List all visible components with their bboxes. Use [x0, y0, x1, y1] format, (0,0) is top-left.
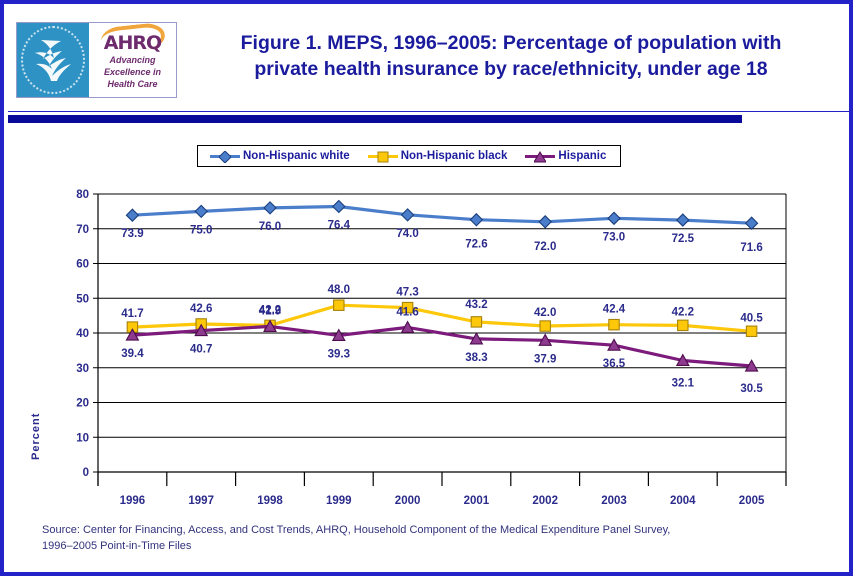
data-point-label: 43.2	[465, 299, 487, 311]
ahrq-tagline-1: Advancing	[91, 55, 174, 66]
hhs-seal-icon	[17, 23, 89, 97]
x-tick-label: 2000	[395, 495, 421, 504]
data-point-label: 41.9	[259, 305, 281, 317]
page-title: Figure 1. MEPS, 1996–2005: Percentage of…	[186, 30, 836, 82]
data-point-marker	[402, 209, 414, 221]
x-tick-label: 2005	[739, 495, 765, 504]
data-point-label: 42.4	[603, 304, 626, 316]
data-point-label: 72.6	[465, 239, 487, 251]
ahrq-tagline-2: Excellence in	[91, 67, 174, 78]
y-tick-label: 10	[76, 432, 89, 444]
ahrq-acronym: AHRQ	[91, 32, 174, 54]
data-point-label: 38.3	[465, 352, 487, 364]
y-tick-label: 50	[76, 293, 89, 305]
data-point-label: 36.5	[603, 358, 626, 370]
data-point-label: 73.9	[121, 228, 143, 240]
ahrq-logo: AHRQ Advancing Excellence in Health Care	[16, 22, 177, 98]
data-point-label: 76.4	[328, 220, 351, 232]
data-point-marker	[746, 217, 758, 229]
x-tick-label: 1999	[326, 495, 352, 504]
source-note-line-2: 1996–2005 Point-in-Time Files	[42, 538, 832, 554]
legend-swatch-diamond-icon	[210, 149, 240, 163]
data-point-label: 32.1	[672, 377, 695, 389]
y-tick-label: 60	[76, 259, 89, 271]
data-point-label: 73.0	[603, 231, 625, 243]
legend-label: Non-Hispanic white	[243, 150, 350, 162]
page-title-line-1: Figure 1. MEPS, 1996–2005: Percentage of…	[186, 30, 836, 56]
x-tick-label: 1998	[257, 495, 283, 504]
legend-label: Hispanic	[558, 150, 606, 162]
data-point-label: 41.6	[396, 306, 418, 318]
data-point-label: 75.0	[190, 224, 212, 236]
data-point-marker	[539, 216, 551, 228]
data-point-marker	[678, 320, 688, 330]
data-point-label: 48.0	[328, 284, 350, 296]
legend-item-hispanic: Hispanic	[525, 149, 606, 163]
seal-bird-icon	[31, 37, 75, 83]
data-point-label: 42.6	[190, 303, 212, 315]
legend-swatch-square-icon	[368, 149, 398, 163]
data-point-marker	[334, 300, 344, 310]
legend-item-non-hispanic-black: Non-Hispanic black	[368, 149, 508, 163]
data-point-marker	[264, 202, 276, 214]
y-tick-label: 40	[76, 328, 89, 340]
data-point-marker	[471, 317, 481, 327]
data-point-label: 40.5	[740, 312, 763, 324]
data-point-label: 39.4	[121, 348, 144, 360]
source-note-line-1: Source: Center for Financing, Access, an…	[42, 522, 832, 538]
data-point-marker	[333, 201, 345, 213]
data-point-label: 47.3	[396, 287, 418, 299]
x-tick-label: 2004	[670, 495, 696, 504]
header: AHRQ Advancing Excellence in Health Care…	[8, 8, 853, 112]
series-line	[132, 207, 751, 224]
data-point-label: 71.6	[740, 242, 762, 254]
line-chart: 0102030405060708019961997199819992000200…	[4, 174, 849, 504]
ahrq-wordmark: AHRQ Advancing Excellence in Health Care	[89, 23, 176, 97]
data-point-marker	[746, 326, 756, 336]
data-point-label: 37.9	[534, 353, 556, 365]
data-point-marker	[677, 214, 689, 226]
legend-label: Non-Hispanic black	[401, 150, 508, 162]
x-tick-label: 1996	[120, 495, 146, 504]
data-point-label: 41.7	[121, 308, 143, 320]
data-point-label: 42.2	[672, 306, 694, 318]
data-point-label: 42.0	[534, 307, 556, 319]
y-tick-label: 80	[76, 189, 89, 201]
legend-item-non-hispanic-white: Non-Hispanic white	[210, 149, 350, 163]
data-point-label: 72.5	[672, 233, 695, 245]
y-tick-label: 30	[76, 363, 89, 375]
x-tick-label: 1997	[188, 495, 214, 504]
data-point-label: 74.0	[396, 228, 418, 240]
x-tick-label: 2001	[464, 495, 490, 504]
legend-swatch-triangle-icon	[525, 149, 555, 163]
data-point-label: 72.0	[534, 241, 556, 253]
y-axis-title: Percent	[30, 444, 42, 460]
data-point-label: 76.0	[259, 221, 281, 233]
series-line	[132, 305, 751, 331]
source-note: Source: Center for Financing, Access, an…	[42, 522, 832, 554]
x-tick-label: 2003	[601, 495, 627, 504]
data-point-label: 39.3	[328, 348, 350, 360]
data-point-marker	[540, 321, 550, 331]
data-point-label: 30.5	[740, 383, 763, 395]
data-point-marker	[608, 212, 620, 224]
y-tick-label: 20	[76, 398, 89, 410]
y-tick-label: 0	[83, 467, 89, 479]
chart-legend: Non-Hispanic white Non-Hispanic black Hi…	[197, 145, 621, 167]
ahrq-tagline-3: Health Care	[91, 79, 174, 90]
data-point-marker	[470, 214, 482, 226]
page-title-line-2: private health insurance by race/ethnici…	[186, 56, 836, 82]
data-point-label: 40.7	[190, 344, 212, 356]
data-point-marker	[609, 319, 619, 329]
y-tick-label: 70	[76, 224, 89, 236]
header-accent-bar	[8, 115, 742, 123]
figure-page: AHRQ Advancing Excellence in Health Care…	[0, 0, 853, 576]
data-point-marker	[126, 209, 138, 221]
series-line	[132, 326, 751, 366]
chart-area: Percent 01020304050607080199619971998199…	[4, 174, 849, 504]
data-point-marker	[195, 205, 207, 217]
x-tick-label: 2002	[532, 495, 558, 504]
